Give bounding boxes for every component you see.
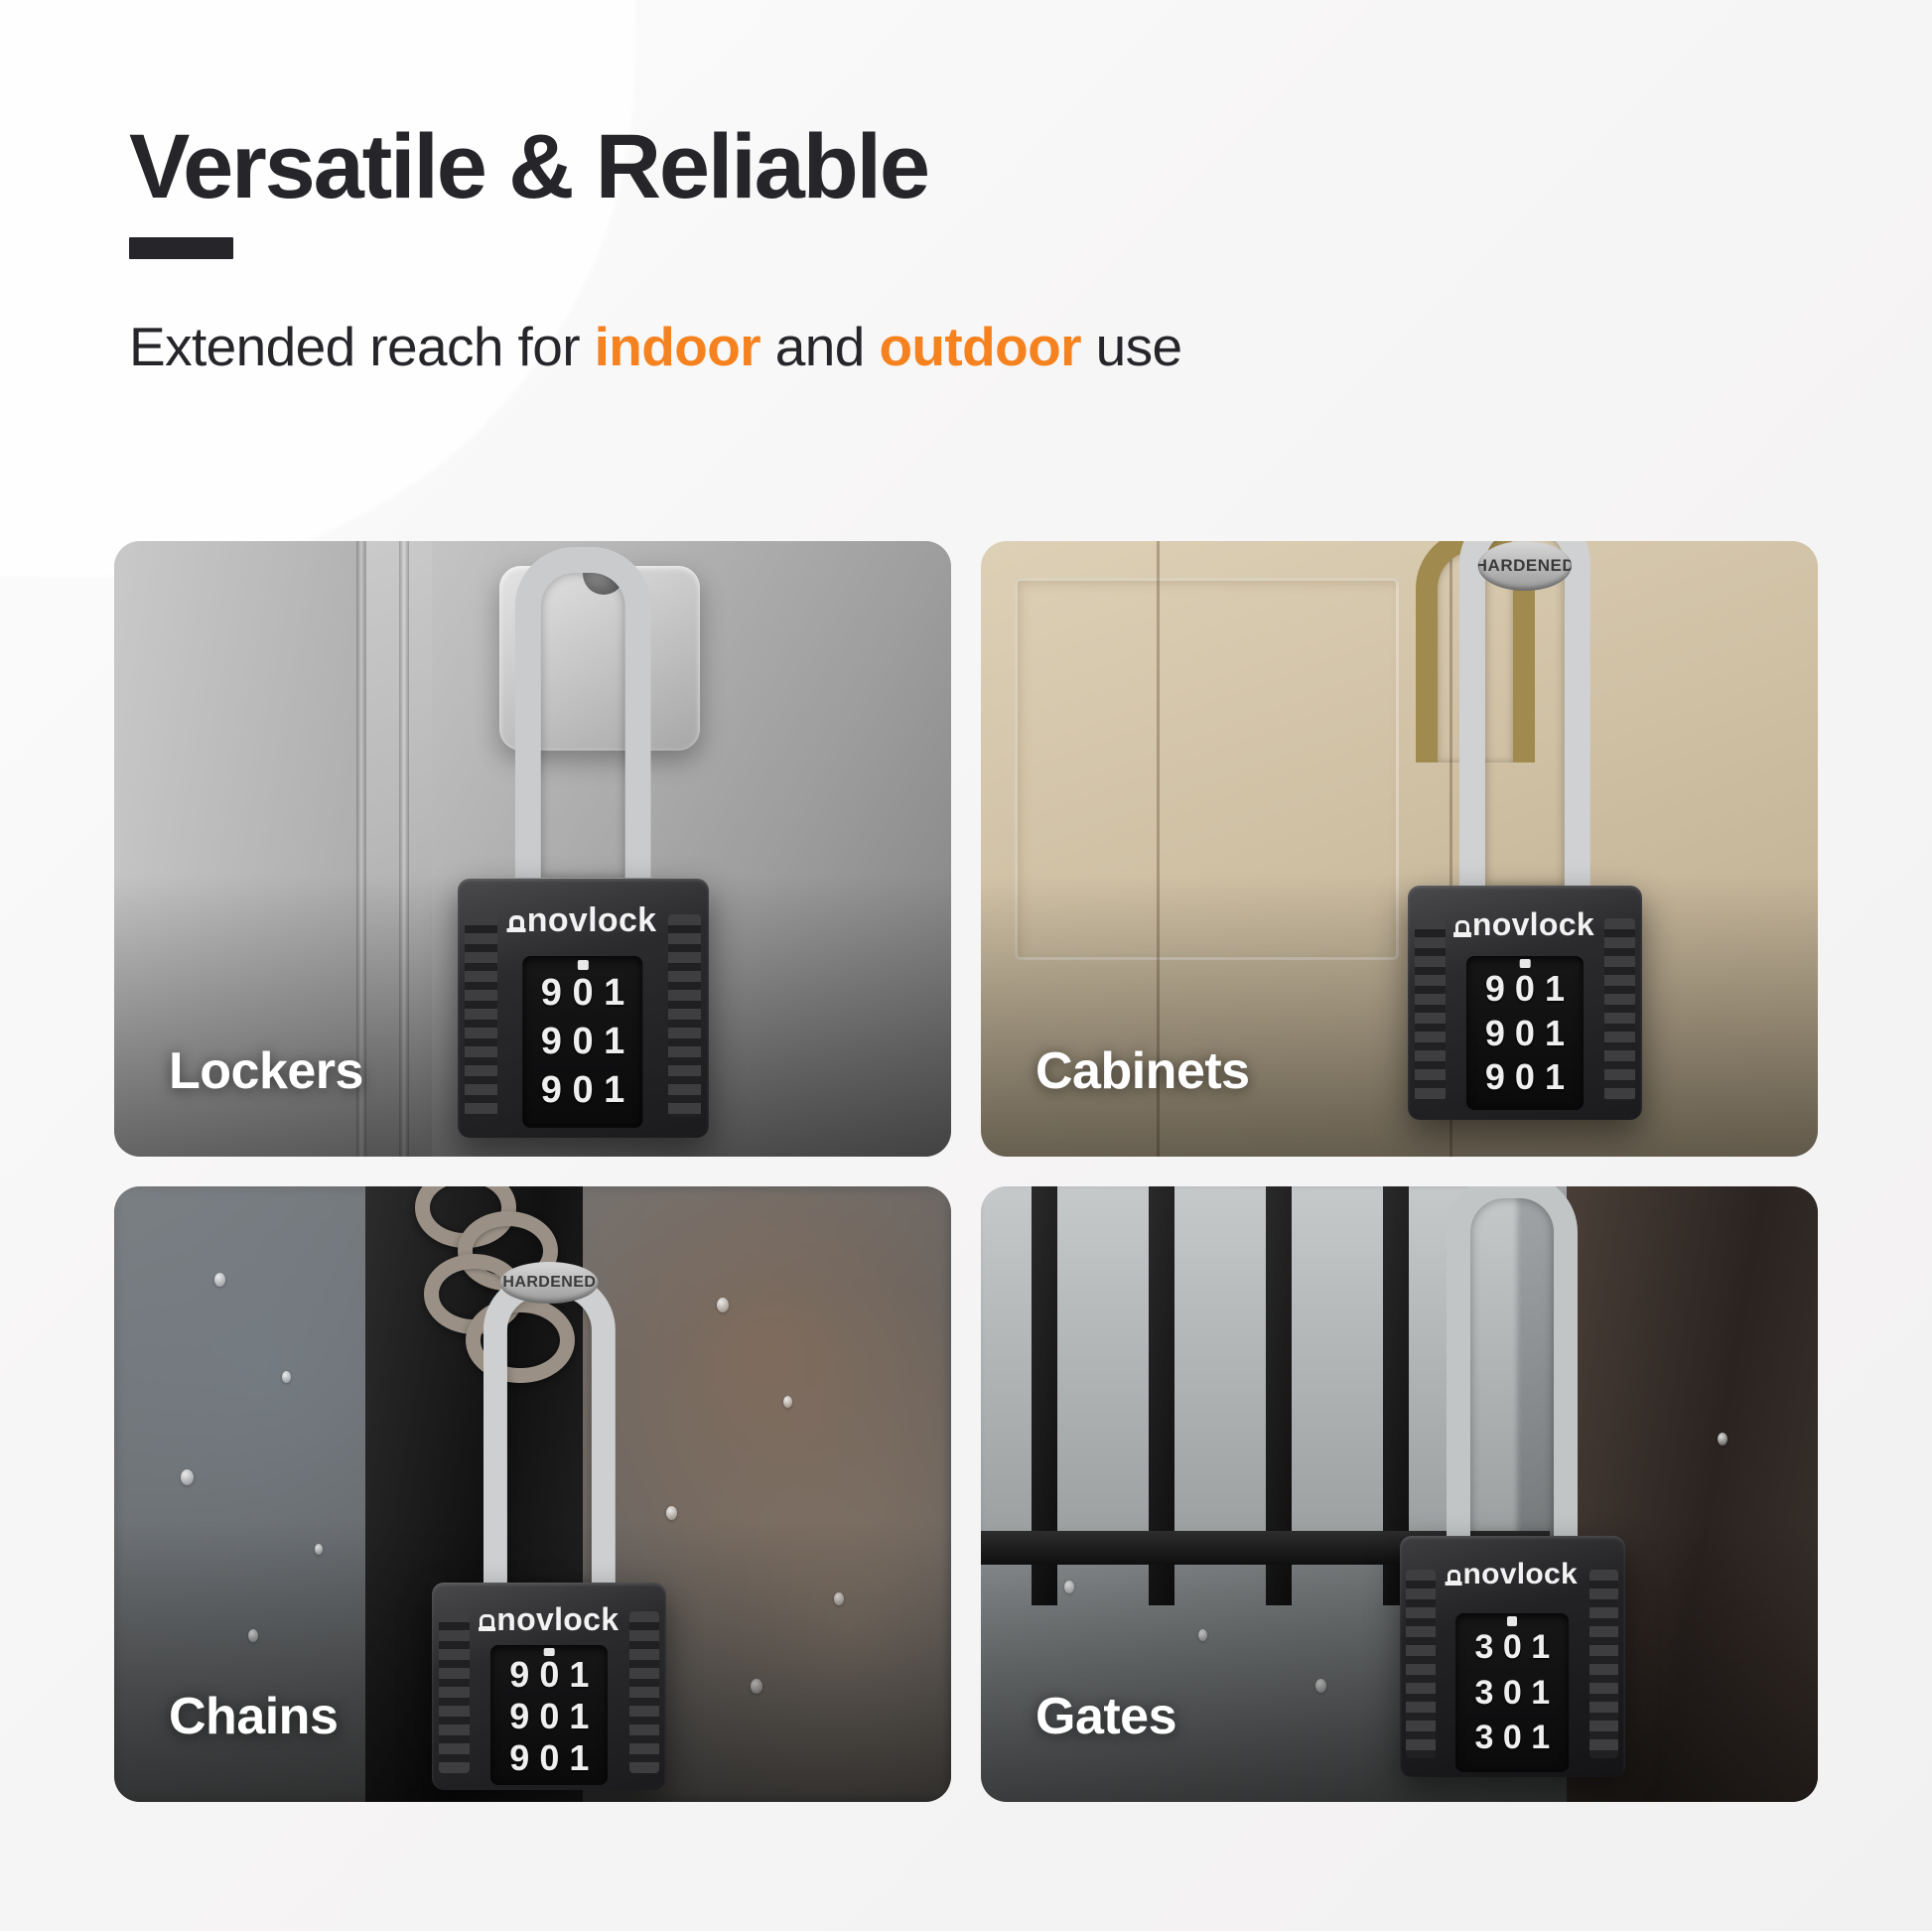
padlock-logo-base (1446, 1582, 1462, 1586)
padlock-dial-tick (578, 960, 589, 970)
padlock-gates: novlock 3 0 1 3 0 1 3 0 1 (1400, 1186, 1626, 1777)
use-case-card-chains[interactable]: HARDENED novlock 9 0 1 (114, 1186, 951, 1802)
padlock-chains: HARDENED novlock 9 0 1 (432, 1273, 666, 1790)
padlock-brand-text: novlock (496, 1601, 619, 1638)
padlock-logo-icon (1448, 1570, 1461, 1584)
padlock-dial-tick (544, 1648, 555, 1656)
padlock-dial-row[interactable]: 3 0 1 (1455, 1628, 1569, 1667)
subtitle-prefix: Extended reach for (129, 316, 595, 377)
padlock-dials: 9 0 1 9 0 1 9 0 1 (1466, 956, 1584, 1110)
padlock-dial-row[interactable]: 9 0 1 (490, 1737, 608, 1779)
card-gradient-overlay (981, 874, 1818, 1157)
use-case-card-lockers[interactable]: novlock 9 0 1 9 0 1 9 0 1 Lockers (114, 541, 951, 1157)
padlock-logo-base (479, 1627, 496, 1631)
padlock-grip-right (668, 914, 701, 1117)
subtitle-highlight-indoor: indoor (595, 316, 760, 377)
card-label-gates: Gates (1035, 1687, 1176, 1746)
padlock-dials: 3 0 1 3 0 1 3 0 1 (1455, 1613, 1569, 1772)
padlock-body: novlock 9 0 1 9 0 1 9 0 1 (1408, 886, 1642, 1120)
padlock-grip-right (1604, 918, 1635, 1101)
padlock-dial-row[interactable]: 9 0 1 (490, 1696, 608, 1737)
rain-droplet (282, 1371, 291, 1383)
header-block: Versatile & Reliable Extended reach for … (129, 119, 1817, 378)
padlock-dial-row[interactable]: 9 0 1 (1466, 1013, 1584, 1054)
padlock-dial-row[interactable]: 9 0 1 (522, 972, 642, 1015)
padlock-brand: novlock (1408, 906, 1642, 943)
use-case-card-cabinets[interactable]: HARDENED novlock 9 0 1 (981, 541, 1818, 1157)
padlock-brand-text: novlock (1463, 1558, 1578, 1591)
padlock-dial-row[interactable]: 3 0 1 (1455, 1674, 1569, 1713)
padlock-body: novlock 9 0 1 9 0 1 9 0 1 (458, 879, 709, 1139)
padlock-grip-left (1406, 1570, 1436, 1758)
padlock-dial-row[interactable]: 9 0 1 (522, 1021, 642, 1063)
padlock-logo-icon (509, 915, 524, 931)
padlock-logo-base (1453, 932, 1471, 936)
card-label-cabinets: Cabinets (1035, 1041, 1250, 1101)
padlock-hardened-text: HARDENED (1478, 556, 1572, 576)
padlock-dial-tick (1507, 1616, 1517, 1626)
padlock-brand: novlock (1400, 1558, 1626, 1591)
use-case-card-grid: novlock 9 0 1 9 0 1 9 0 1 Lockers (114, 541, 1818, 1802)
padlock-dial-row[interactable]: 9 0 1 (1466, 968, 1584, 1010)
padlock-logo-base (507, 928, 526, 932)
padlock-grip-right (1589, 1570, 1619, 1758)
padlock-shackle (1459, 541, 1590, 886)
card-label-lockers: Lockers (169, 1041, 363, 1101)
rain-droplet (214, 1273, 225, 1287)
padlock-cabinets: HARDENED novlock 9 0 1 (1408, 541, 1642, 1120)
padlock-body: novlock 3 0 1 3 0 1 3 0 1 (1400, 1536, 1626, 1777)
padlock-dial-row[interactable]: 9 0 1 (490, 1654, 608, 1696)
use-case-card-gates[interactable]: novlock 3 0 1 3 0 1 3 0 1 Gates (981, 1186, 1818, 1802)
padlock-dial-row[interactable]: 9 0 1 (1466, 1056, 1584, 1098)
padlock-hardened-band: HARDENED (500, 1262, 599, 1304)
padlock-grip-left (465, 914, 497, 1117)
padlock-brand: novlock (432, 1601, 666, 1638)
padlock-logo-icon (480, 1614, 493, 1629)
padlock-grip-left (1415, 918, 1446, 1101)
card-label-chains: Chains (169, 1687, 338, 1746)
padlock-hardened-text: HARDENED (502, 1274, 596, 1292)
title-underline-rule (129, 237, 233, 259)
page-subtitle: Extended reach for indoor and outdoor us… (129, 315, 1817, 378)
padlock-shackle (515, 547, 651, 878)
rain-droplet (1718, 1433, 1727, 1446)
padlock-logo-icon (1455, 920, 1469, 935)
subtitle-middle: and (760, 316, 879, 377)
padlock-dial-row[interactable]: 9 0 1 (522, 1069, 642, 1112)
padlock-shackle (483, 1273, 615, 1583)
padlock-dial-row[interactable]: 3 0 1 (1455, 1719, 1569, 1757)
padlock-lockers: novlock 9 0 1 9 0 1 9 0 1 (458, 547, 709, 1138)
padlock-shackle (1447, 1186, 1578, 1536)
padlock-brand: novlock (458, 901, 709, 940)
padlock-brand-text: novlock (1472, 906, 1594, 943)
subtitle-suffix: use (1081, 316, 1182, 377)
infographic-page: Versatile & Reliable Extended reach for … (0, 0, 1932, 1931)
padlock-dial-tick (1520, 959, 1531, 968)
rain-droplet (717, 1298, 729, 1312)
page-title: Versatile & Reliable (129, 119, 1817, 215)
padlock-dials: 9 0 1 9 0 1 9 0 1 (522, 956, 642, 1128)
padlock-brand-text: novlock (527, 901, 657, 940)
padlock-hardened-band: HARDENED (1478, 541, 1572, 591)
subtitle-highlight-outdoor: outdoor (879, 316, 1081, 377)
padlock-dials: 9 0 1 9 0 1 9 0 1 (490, 1645, 608, 1786)
padlock-body: novlock 9 0 1 9 0 1 9 0 1 (432, 1583, 666, 1789)
